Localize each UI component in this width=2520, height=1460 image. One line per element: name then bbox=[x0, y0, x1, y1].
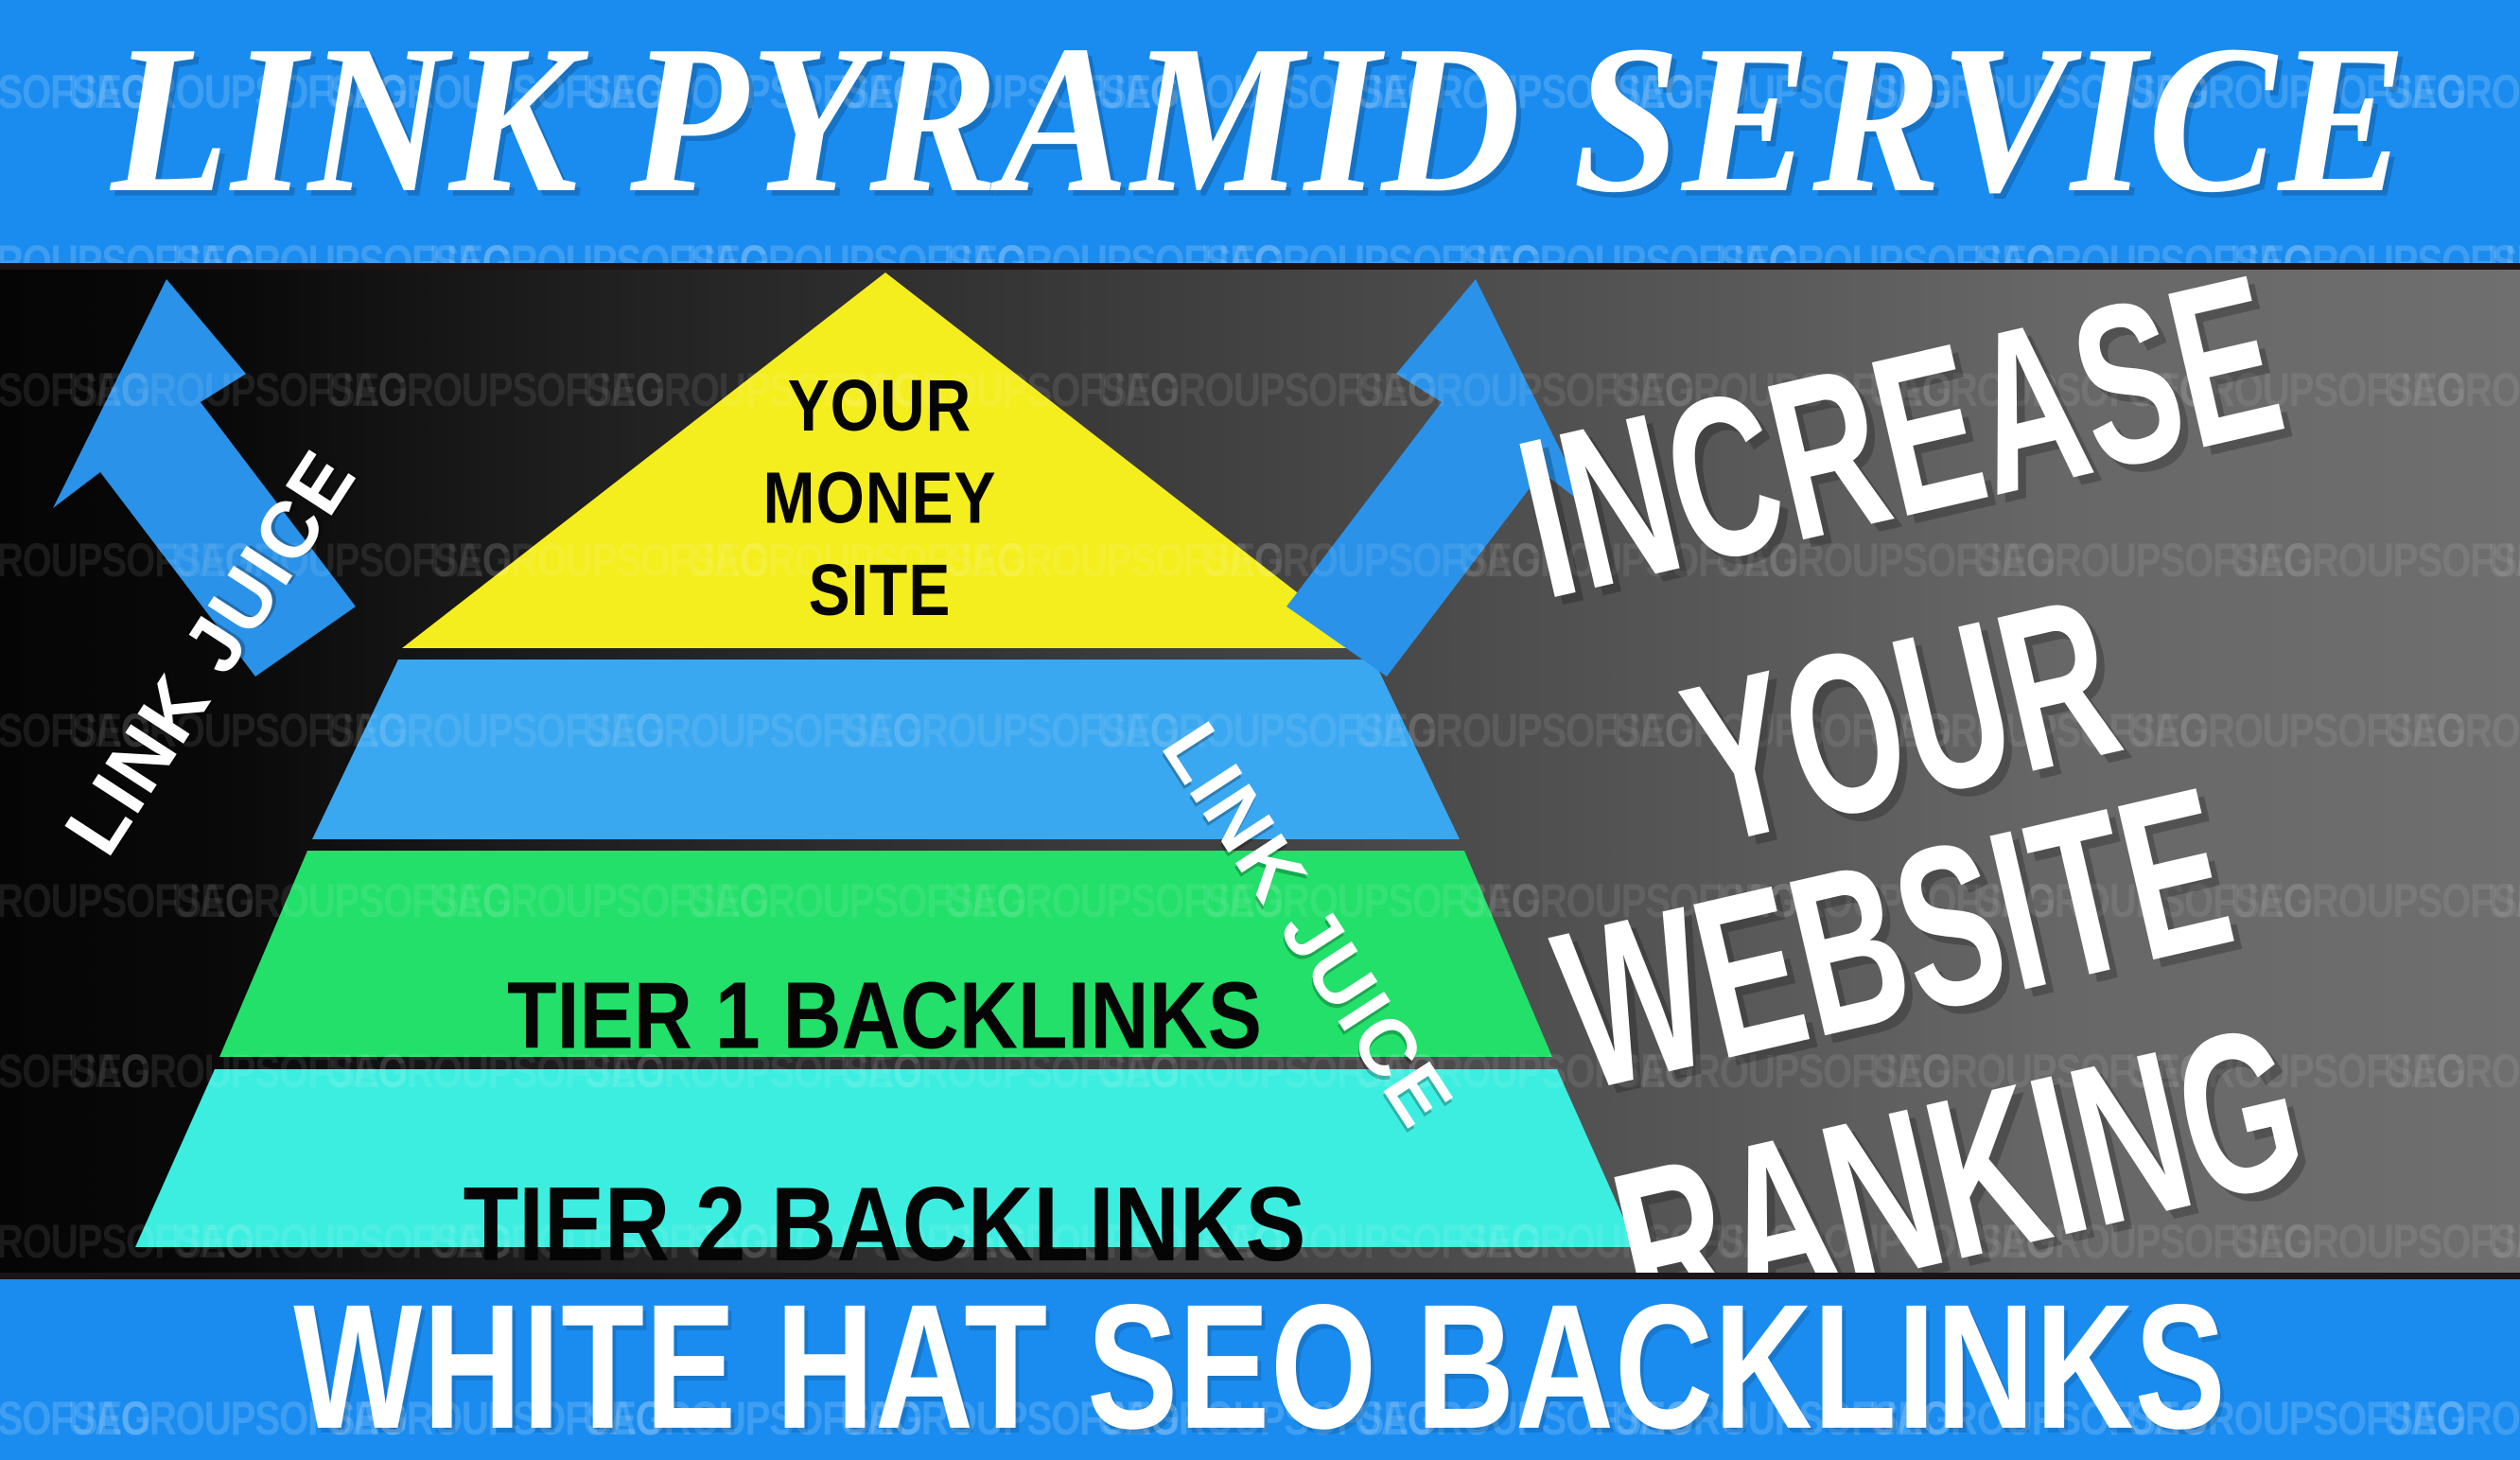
apex-label-line-3: SITE bbox=[596, 544, 1164, 636]
bottom-banner: UAGROUPSOFSEOUAGROUPSOFSEOUAGROUPSOFSEOU… bbox=[0, 1279, 2520, 1460]
poster-subtitle: WHITE HAT SEO BACKLINKS bbox=[50, 1279, 2469, 1460]
pyramid-tier-2-label: TIER 2 BACKLINKS bbox=[312, 1165, 1457, 1273]
apex-label-line-1: YOUR bbox=[596, 360, 1164, 451]
apex-label-line-2: MONEY bbox=[596, 451, 1164, 543]
top-banner: UAGROUPSOFSEOUAGROUPSOFSEOUAGROUPSOFSEOU… bbox=[0, 0, 2520, 263]
pyramid-apex-label: YOUR MONEY SITE bbox=[596, 360, 1164, 636]
bottom-seam-divider bbox=[0, 1272, 2520, 1279]
poster-title: LINK PYRAMID SERVICE bbox=[0, 0, 2520, 241]
main-panel: YOUR MONEY SITE TIER 1 BACKLINKS TIER 2 … bbox=[0, 270, 2520, 1273]
link-pyramid-poster: UAGROUPSOFSEOUAGROUPSOFSEOUAGROUPSOFSEOU… bbox=[0, 0, 2520, 1460]
pyramid-tier-1-label: TIER 1 BACKLINKS bbox=[378, 962, 1391, 1071]
